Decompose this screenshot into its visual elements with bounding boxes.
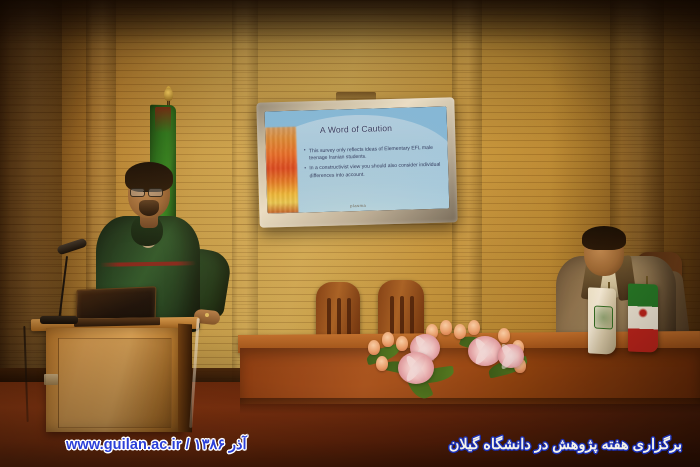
- rose: [382, 332, 394, 347]
- tv-brand-mark: plasma: [350, 203, 366, 208]
- eyeglasses-icon: [130, 188, 145, 197]
- lectern-front-panel: [58, 338, 172, 428]
- rose: [498, 328, 510, 343]
- rose: [396, 336, 408, 351]
- lily: [498, 344, 524, 368]
- rose: [368, 340, 380, 355]
- ceiling-shadow: [0, 0, 700, 44]
- slide-bullet: This survey only reflects ideas of Eleme…: [304, 144, 441, 163]
- caption-event-title: برگزاری هفته پژوهش در دانشگاه گیلان: [449, 437, 682, 453]
- university-emblem-icon: [594, 306, 613, 330]
- flag-finial-icon: [164, 88, 173, 101]
- slide-body: This survey only reflects ideas of Eleme…: [304, 144, 441, 182]
- chair-slot: [327, 298, 331, 338]
- eyeglasses-bridge: [143, 191, 148, 192]
- eyeglasses-icon: [148, 188, 163, 197]
- microphone-base: [40, 316, 78, 324]
- lily: [398, 352, 434, 384]
- panelist-hair: [582, 226, 626, 250]
- rose: [376, 356, 388, 371]
- head-table-shadow: [240, 398, 700, 414]
- speaker-ring: [205, 313, 209, 317]
- speaker-beard: [139, 200, 159, 216]
- slide-sunset-image: [265, 127, 298, 214]
- rose: [440, 320, 452, 335]
- chair-slot: [347, 298, 351, 338]
- conference-photograph: A Word of Caution This survey only refle…: [0, 0, 700, 467]
- green-standing-flag-accent: [155, 107, 171, 133]
- chair: [316, 282, 360, 338]
- presentation-display: A Word of Caution This survey only refle…: [256, 97, 457, 227]
- iran-emblem-icon: [638, 308, 648, 318]
- display-panel: A Word of Caution This survey only refle…: [265, 106, 450, 213]
- rose: [468, 320, 480, 335]
- wall-outlet: [44, 374, 58, 385]
- slide-bullet: In a constructivist view you should also…: [304, 162, 441, 181]
- chair-slot: [337, 298, 341, 338]
- floral-arrangement: [364, 318, 532, 390]
- lily: [468, 336, 502, 366]
- presentation-slide: A Word of Caution This survey only refle…: [265, 106, 450, 213]
- caption-website-date: www.guilan.ac.ir / آذر ۱۳۸۶: [66, 437, 247, 453]
- iran-flag: [628, 283, 658, 352]
- rose: [454, 324, 466, 339]
